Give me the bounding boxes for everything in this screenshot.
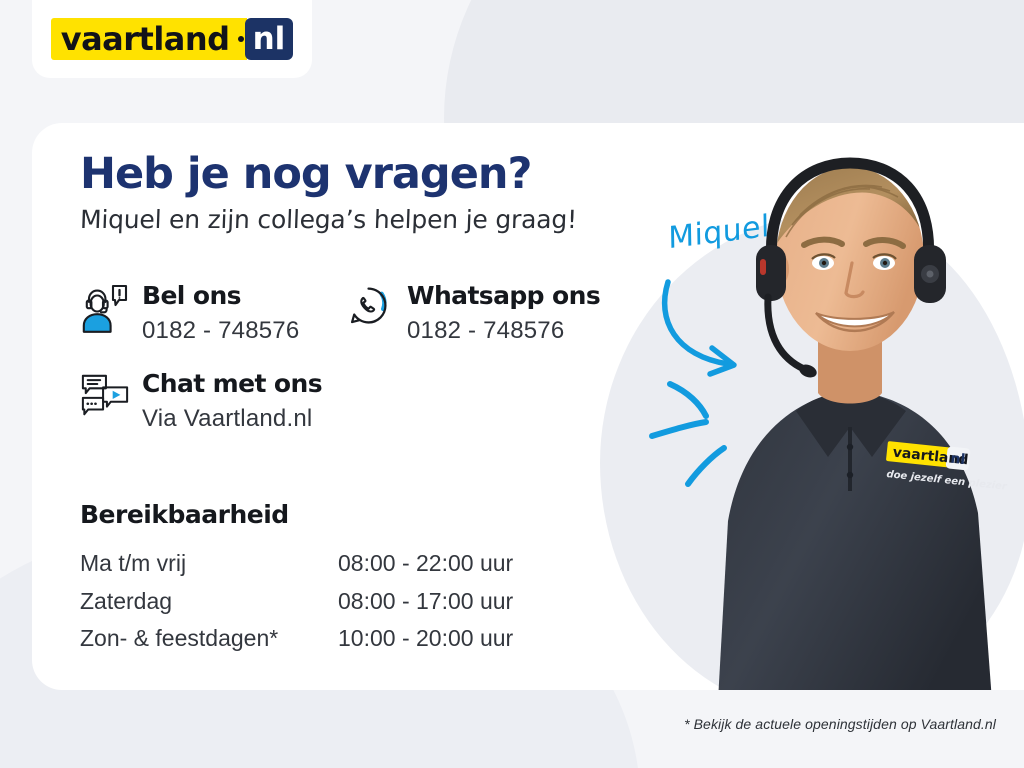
contact-value-call: 0182 - 748576 [142, 315, 299, 346]
availability-hours: 08:00 - 22:00 uur [338, 545, 550, 583]
chat-bubbles-icon [80, 370, 128, 422]
availability-table: Ma t/m vrij 08:00 - 22:00 uur Zaterdag 0… [80, 545, 550, 658]
logo-tld: nl [245, 18, 294, 60]
availability-day: Ma t/m vrij [80, 545, 338, 583]
availability-hours: 08:00 - 17:00 uur [338, 583, 550, 621]
logo-wordmark: vaartland [51, 18, 238, 60]
support-agent-photo: vaartland nl doe jezelf een plezier [700, 141, 1024, 690]
availability-day: Zon- & feestdagen* [80, 620, 338, 658]
contact-text-chat: Chat met ons Via Vaartland.nl [142, 368, 322, 434]
availability-day: Zaterdag [80, 583, 338, 621]
availability-section: Bereikbaarheid Ma t/m vrij 08:00 - 22:00… [80, 500, 600, 658]
contact-item-call[interactable]: Bel ons 0182 - 748576 [80, 280, 345, 346]
svg-text:nl: nl [950, 451, 966, 468]
table-row: Ma t/m vrij 08:00 - 22:00 uur [80, 545, 550, 583]
availability-title: Bereikbaarheid [80, 500, 600, 529]
table-row: Zon- & feestdagen* 10:00 - 20:00 uur [80, 620, 550, 658]
footnote-text: * Bekijk de actuele openingstijden op Va… [684, 716, 996, 732]
availability-hours: 10:00 - 20:00 uur [338, 620, 550, 658]
contact-title-call: Bel ons [142, 281, 241, 310]
headset-person-icon [80, 282, 128, 334]
brand-logo[interactable]: vaartland nl [32, 0, 312, 78]
whatsapp-icon [345, 282, 393, 334]
contact-item-chat[interactable]: Chat met ons Via Vaartland.nl [80, 368, 410, 434]
banner-stage: vaartland nl Heb je nog vragen? Miquel e… [0, 0, 1024, 768]
table-row: Zaterdag 08:00 - 17:00 uur [80, 583, 550, 621]
hero-image-area: Miquel [560, 123, 1024, 690]
contact-value-chat: Via Vaartland.nl [142, 403, 322, 434]
contact-title-chat: Chat met ons [142, 369, 322, 398]
contact-text-call: Bel ons 0182 - 748576 [142, 280, 299, 346]
logo-mark: vaartland nl [51, 18, 294, 60]
